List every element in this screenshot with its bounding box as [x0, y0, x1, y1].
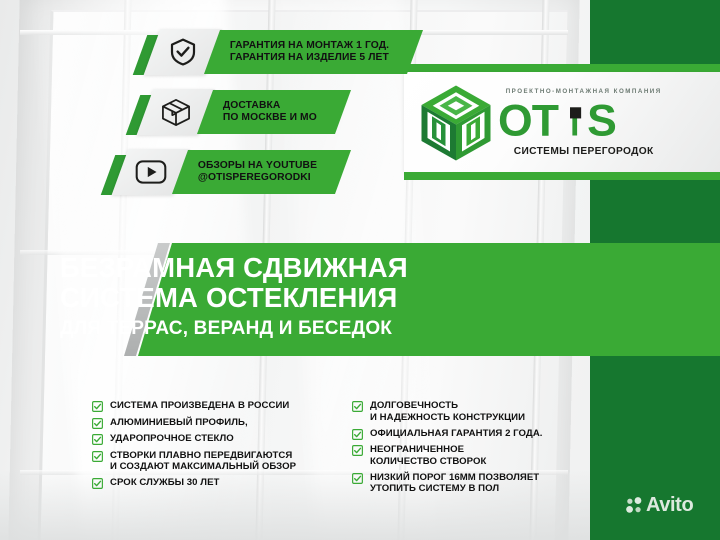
feature-line: НИЗКИЙ ПОРОГ 16ММ ПОЗВОЛЯЕТ: [370, 472, 539, 484]
headline-line-1: БЕЗРАМНАЯ СДВИЖНАЯ: [60, 253, 660, 283]
feature-label: СРОК СЛУЖБЫ 30 ЛЕТ: [110, 477, 219, 489]
feature-line: И НАДЕЖНОСТЬ КОНСТРУКЦИИ: [370, 412, 525, 424]
logo-tagline: ПРОЕКТНО-МОНТАЖНАЯ КОМПАНИЯ: [506, 89, 662, 95]
feature-line: И СОЗДАЮТ МАКСИМАЛЬНЫЙ ОБЗОР: [110, 461, 296, 473]
checkbox-checked-icon: [92, 478, 103, 489]
svg-text:OT: OT: [498, 97, 559, 145]
feature-line: СТВОРКИ ПЛАВНО ПЕРЕДВИГАЮТСЯ: [110, 450, 296, 462]
checkbox-checked-icon: [352, 445, 363, 456]
company-logo: ПРОЕКТНО-МОНТАЖНАЯ КОМПАНИЯ OT i S СИСТЕ…: [418, 80, 718, 166]
badge-label: ГАРАНТИЯ НА МОНТАЖ 1 ГОД. ГАРАНТИЯ НА ИЗ…: [230, 40, 389, 65]
feature-list-left: СИСТЕМА ПРОИЗВЕДЕНА В РОССИИАЛЮМИНИЕВЫЙ …: [92, 400, 350, 494]
shield-check-icon: [170, 38, 196, 66]
badge-line: ГАРАНТИЯ НА ИЗДЕЛИЕ 5 ЛЕТ: [230, 52, 389, 64]
avito-watermark: Avito: [626, 495, 693, 515]
headline-text-group: БЕЗРАМНАЯ СДВИЖНАЯ СИСТЕМА ОСТЕКЛЕНИЯ ДЛ…: [60, 253, 660, 341]
feature-item: АЛЮМИНИЕВЫЙ ПРОФИЛЬ,: [92, 417, 350, 429]
checkbox-checked-icon: [352, 401, 363, 412]
logo-strip-top-accent: [404, 64, 720, 72]
feature-list-right: ДОЛГОВЕЧНОСТЬИ НАДЕЖНОСТЬ КОНСТРУКЦИИОФИ…: [352, 400, 602, 500]
otis-cube-icon: [418, 84, 494, 162]
feature-label: УДАРОПРОЧНОЕ СТЕКЛО: [110, 433, 234, 445]
headline-line-2: СИСТЕМА ОСТЕКЛЕНИЯ: [60, 283, 660, 313]
badge-warranty: ГАРАНТИЯ НА МОНТАЖ 1 ГОД. ГАРАНТИЯ НА ИЗ…: [152, 29, 415, 75]
badge-line: ПО МОСКВЕ И МО: [223, 112, 317, 124]
avito-label: Avito: [646, 495, 693, 515]
checkbox-checked-icon: [92, 401, 103, 412]
feature-item: СТВОРКИ ПЛАВНО ПЕРЕДВИГАЮТСЯИ СОЗДАЮТ МА…: [92, 450, 350, 473]
feature-label: ОФИЦИАЛЬНАЯ ГАРАНТИЯ 2 ГОДА.: [370, 428, 543, 440]
advertisement-banner: ПРОЕКТНО-МОНТАЖНАЯ КОМПАНИЯ OT i S СИСТЕ…: [0, 0, 720, 540]
youtube-play-icon: [135, 160, 167, 184]
feature-label: АЛЮМИНИЕВЫЙ ПРОФИЛЬ,: [110, 417, 248, 429]
feature-item: УДАРОПРОЧНОЕ СТЕКЛО: [92, 433, 350, 445]
badge-line: @OTISPEREGORODKI: [198, 172, 317, 184]
package-box-icon: [161, 98, 191, 126]
feature-item: СРОК СЛУЖБЫ 30 ЛЕТ: [92, 477, 350, 489]
feature-item: НИЗКИЙ ПОРОГ 16ММ ПОЗВОЛЯЕТУТОПИТЬ СИСТЕ…: [352, 472, 602, 495]
feature-line: НЕОГРАНИЧЕННОЕ: [370, 444, 486, 456]
feature-item: СИСТЕМА ПРОИЗВЕДЕНА В РОССИИ: [92, 400, 350, 412]
feature-line: УТОПИТЬ СИСТЕМУ В ПОЛ: [370, 483, 539, 495]
feature-line: ОФИЦИАЛЬНАЯ ГАРАНТИЯ 2 ГОДА.: [370, 428, 543, 440]
badge-line: ОБЗОРЫ НА YOUTUBE: [198, 160, 317, 172]
feature-label: СТВОРКИ ПЛАВНО ПЕРЕДВИГАЮТСЯИ СОЗДАЮТ МА…: [110, 450, 296, 473]
feature-line: АЛЮМИНИЕВЫЙ ПРОФИЛЬ,: [110, 417, 248, 429]
badge-youtube: ОБЗОРЫ НА YOUTUBE @OTISPEREGORODKI: [120, 149, 343, 195]
feature-item: НЕОГРАНИЧЕННОЕКОЛИЧЕСТВО СТВОРОК: [352, 444, 602, 467]
badge-delivery: ДОСТАВКА ПО МОСКВЕ И МО: [145, 89, 343, 135]
feature-line: СРОК СЛУЖБЫ 30 ЛЕТ: [110, 477, 219, 489]
feature-label: ДОЛГОВЕЧНОСТЬИ НАДЕЖНОСТЬ КОНСТРУКЦИИ: [370, 400, 525, 423]
feature-item: ОФИЦИАЛЬНАЯ ГАРАНТИЯ 2 ГОДА.: [352, 428, 602, 440]
badge-label: ДОСТАВКА ПО МОСКВЕ И МО: [223, 100, 317, 125]
badge-text-bar: ГАРАНТИЯ НА МОНТАЖ 1 ГОД. ГАРАНТИЯ НА ИЗ…: [204, 30, 423, 74]
checkbox-checked-icon: [92, 418, 103, 429]
checkbox-checked-icon: [92, 451, 103, 462]
avito-dots-icon: [626, 497, 643, 514]
badge-label: ОБЗОРЫ НА YOUTUBE @OTISPEREGORODKI: [198, 160, 317, 185]
headline-line-3: ДЛЯ ТЕРРАС, ВЕРАНД И БЕСЕДОК: [60, 317, 660, 341]
logo-strip-bottom-accent: [404, 172, 720, 180]
svg-text:S: S: [587, 97, 617, 145]
feature-line: КОЛИЧЕСТВО СТВОРОК: [370, 456, 486, 468]
checkbox-checked-icon: [352, 473, 363, 484]
badge-line: ДОСТАВКА: [223, 100, 317, 112]
feature-label: СИСТЕМА ПРОИЗВЕДЕНА В РОССИИ: [110, 400, 289, 412]
feature-line: ДОЛГОВЕЧНОСТЬ: [370, 400, 525, 412]
feature-label: НИЗКИЙ ПОРОГ 16ММ ПОЗВОЛЯЕТУТОПИТЬ СИСТЕ…: [370, 472, 539, 495]
feature-label: НЕОГРАНИЧЕННОЕКОЛИЧЕСТВО СТВОРОК: [370, 444, 486, 467]
feature-line: УДАРОПРОЧНОЕ СТЕКЛО: [110, 433, 234, 445]
badge-line: ГАРАНТИЯ НА МОНТАЖ 1 ГОД.: [230, 40, 389, 52]
badge-text-bar: ОБЗОРЫ НА YOUTUBE @OTISPEREGORODKI: [172, 150, 351, 194]
checkbox-checked-icon: [352, 429, 363, 440]
feature-item: ДОЛГОВЕЧНОСТЬИ НАДЕЖНОСТЬ КОНСТРУКЦИИ: [352, 400, 602, 423]
feature-line: СИСТЕМА ПРОИЗВЕДЕНА В РОССИИ: [110, 400, 289, 412]
badge-text-bar: ДОСТАВКА ПО МОСКВЕ И МО: [197, 90, 351, 134]
checkbox-checked-icon: [92, 434, 103, 445]
logo-subtitle: СИСТЕМЫ ПЕРЕГОРОДОК: [514, 147, 654, 157]
otis-wordmark: OT i S: [498, 97, 669, 145]
